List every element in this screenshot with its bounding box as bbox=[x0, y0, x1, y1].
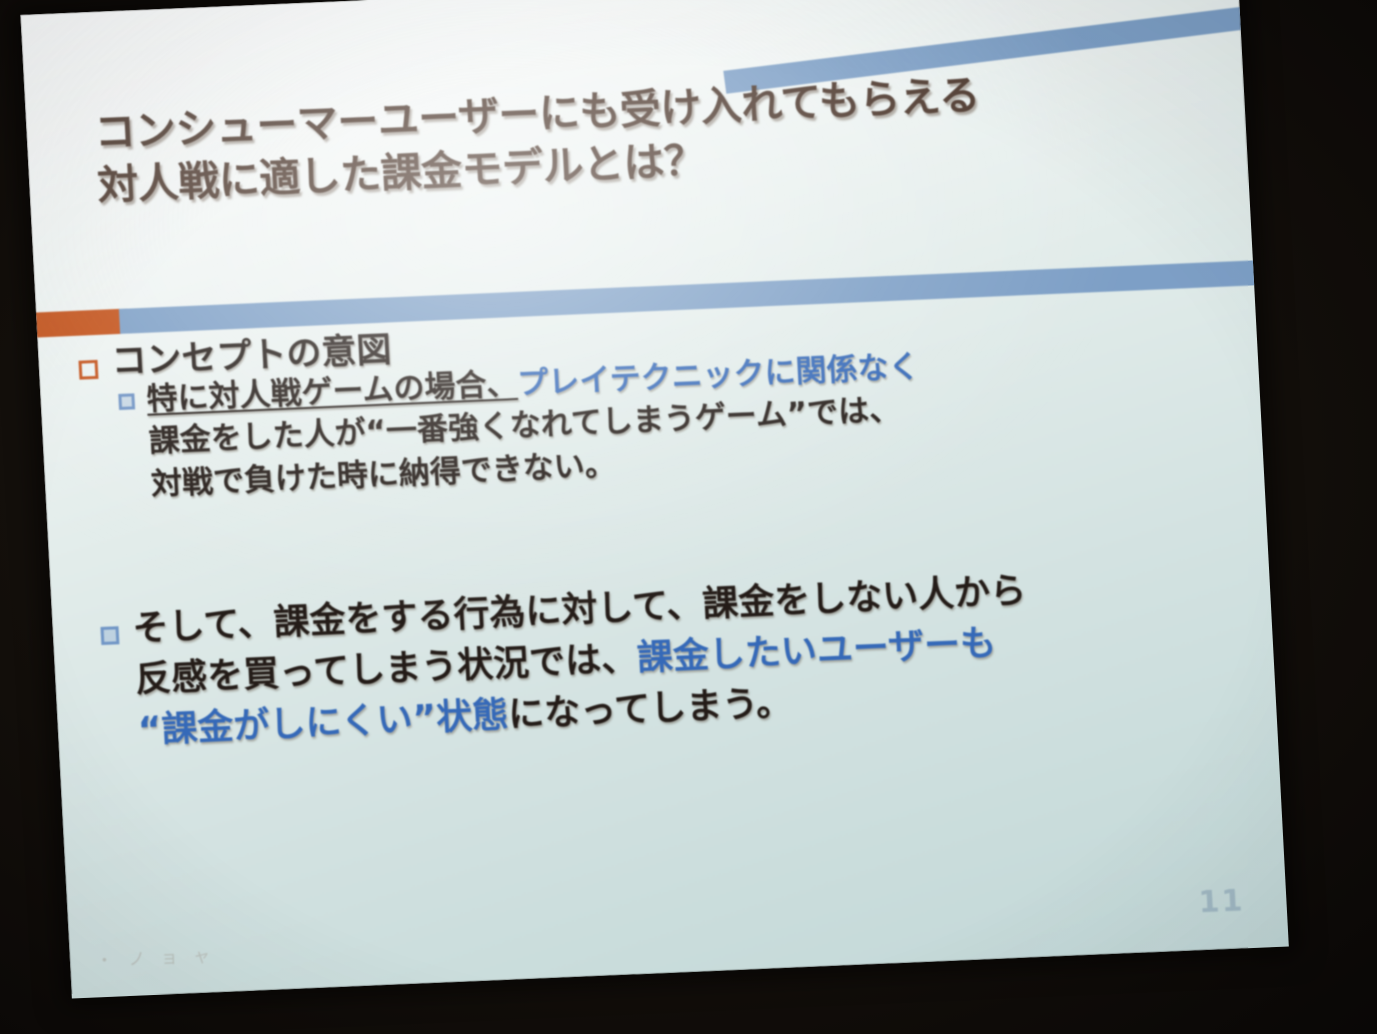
paragraph2-line-3-black: になってしまう。 bbox=[507, 683, 793, 736]
second-paragraph-text: そして、課金をする行為に対して、課金をしない人から 反感を買ってしまう状況では、… bbox=[131, 565, 1032, 756]
projection-screen: コンシューマーユーザーにも受け入れてもらえる 対人戦に適した課金モデルとは？ コ… bbox=[20, 0, 1288, 999]
paragraph2-line-3-blue: “課金がしにくい”状態 bbox=[137, 695, 509, 752]
page-title: コンシューマーユーザーにも受け入れてもらえる 対人戦に適した課金モデルとは？ bbox=[93, 64, 1098, 213]
projected-slide-photo: コンシューマーユーザーにも受け入れてもらえる 対人戦に適した課金モデルとは？ コ… bbox=[0, 0, 1377, 1034]
blue-square-bullet-icon bbox=[118, 393, 135, 410]
projection-screen-wrapper: コンシューマーユーザーにも受け入れてもらえる 対人戦に適した課金モデルとは？ コ… bbox=[20, 0, 1288, 999]
slide-content: コンシューマーユーザーにも受け入れてもらえる 対人戦に適した課金モデルとは？ コ… bbox=[20, 0, 1288, 999]
blue-square-bullet-icon-2 bbox=[100, 626, 119, 645]
second-paragraph-row: そして、課金をする行為に対して、課金をしない人から 反感を買ってしまう状況では、… bbox=[99, 556, 1258, 758]
footer-mark: ・ ノ ョ ャ bbox=[95, 941, 215, 971]
slide-number: 11 bbox=[1198, 883, 1246, 920]
slide-body: コンセプトの意図 特に対人戦ゲームの場合、プレイテクニックに関係なく 課金をした… bbox=[78, 293, 1259, 758]
orange-square-bullet-icon bbox=[79, 360, 99, 380]
orange-accent-tab bbox=[36, 309, 121, 338]
paragraph2-line-2-blue: 課金したいユーザーも bbox=[636, 623, 997, 679]
